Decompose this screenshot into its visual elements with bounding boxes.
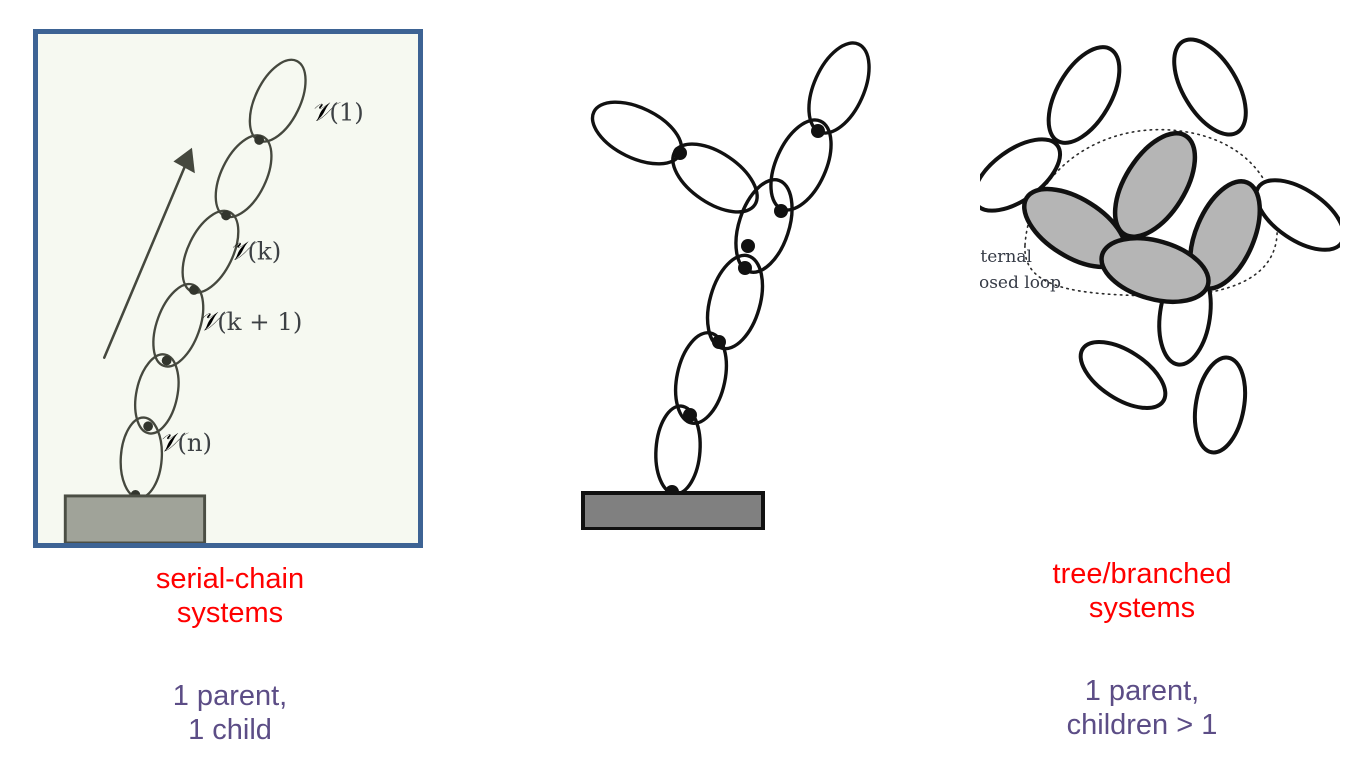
caption-serial-sub: 1 parent, 1 child	[55, 680, 405, 747]
tree-joints	[665, 124, 825, 499]
tree-branched-column: tree/branched systems 1 parent, children…	[470, 0, 910, 781]
serial-link-chain	[118, 51, 317, 499]
link-ellipse	[204, 127, 283, 226]
joint-dot	[712, 335, 726, 349]
internal-loop-annotation-line2: closed loop	[980, 273, 1061, 293]
link-ellipse	[238, 51, 317, 150]
tree-branched-panel	[575, 30, 895, 530]
internal-loop-annotation-line1: internal	[980, 247, 1032, 267]
joint-dot	[774, 204, 788, 218]
serial-chain-diagram: 𝒱 (1) 𝒱 (k) 𝒱 (k + 1) 𝒱 (n)	[38, 34, 418, 543]
link-ellipse	[661, 130, 769, 225]
joint-dot	[162, 356, 172, 366]
link-ellipse	[1160, 30, 1261, 146]
link-ellipse	[1188, 354, 1252, 457]
label-vk-index: (k)	[247, 236, 281, 265]
joint-dot	[143, 421, 153, 431]
label-vn-index: (n)	[177, 428, 212, 457]
link-ellipse	[583, 89, 691, 176]
link-ellipse	[725, 173, 802, 280]
tree-link-chain	[583, 34, 881, 495]
slide-canvas: 𝒱 (1) 𝒱 (k) 𝒱 (k + 1) 𝒱 (n) serial-chain…	[0, 0, 1371, 781]
joint-dot	[254, 135, 264, 145]
link-ellipse	[759, 111, 844, 219]
closed-chain-panel: internal closed loop	[980, 30, 1340, 490]
joint-dot	[221, 211, 231, 221]
direction-arrow	[104, 148, 195, 358]
link-ellipse	[797, 34, 882, 142]
serial-chain-column: 𝒱 (1) 𝒱 (k) 𝒱 (k + 1) 𝒱 (n) serial-chain…	[0, 0, 470, 781]
serial-chain-panel: 𝒱 (1) 𝒱 (k) 𝒱 (k + 1) 𝒱 (n)	[33, 29, 423, 548]
ground-block	[583, 493, 763, 529]
joint-dot	[189, 285, 199, 295]
joint-dot	[738, 261, 752, 275]
joint-dot	[811, 124, 825, 138]
link-ellipse	[698, 249, 773, 355]
closed-chain-column: internal closed loop closed-chain system…	[910, 0, 1371, 781]
label-v1-index: (1)	[329, 97, 363, 126]
closed-chain-diagram: internal closed loop	[980, 30, 1340, 490]
caption-serial-title: serial-chain systems	[55, 563, 405, 630]
link-ellipse	[1034, 36, 1134, 155]
joint-dot	[683, 408, 697, 422]
tree-branched-diagram	[575, 30, 895, 530]
joint-dot	[673, 146, 687, 160]
ground-block	[65, 496, 204, 543]
joint-dot	[741, 239, 755, 253]
label-vk1-index: (k + 1)	[217, 307, 302, 336]
